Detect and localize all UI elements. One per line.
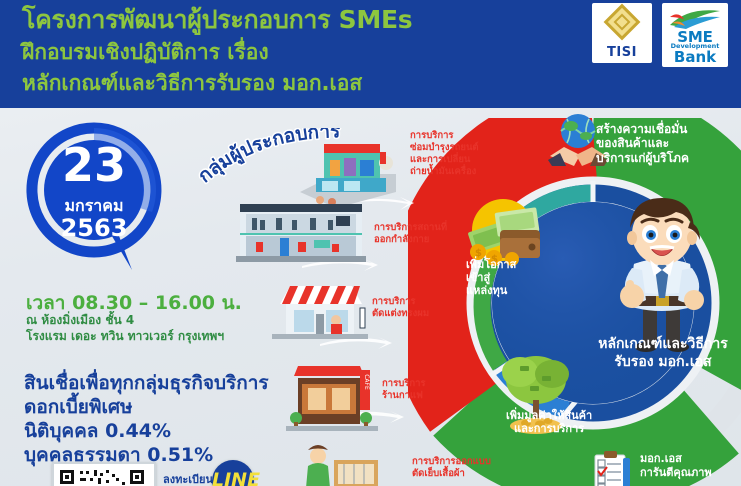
header-subtitle-1: ฝึกอบรมเชิงปฏิบัติการ เรื่อง [22, 41, 269, 64]
benefit-label-trust: สร้างความเชื่อมั่น ของสินค้าและ บริการแก… [596, 122, 689, 165]
register-label: ลงทะเบียน [163, 470, 213, 486]
barbershop-illustration [272, 276, 368, 342]
guarantee-label: มอก.เอส การันตีคุณภาพ [640, 452, 712, 480]
sme-development-bank-logo: SME Development Bank [662, 3, 728, 67]
qr-code-image [54, 464, 154, 486]
benefit-label-value: เพิ่มมูลค่าให้สินค้า และการบริการ [506, 409, 592, 435]
header-band: โครงการพัฒนาผู้ประกอบการ SMEs ฝึกอบรมเชิ… [0, 0, 741, 108]
event-venue-line2: โรงแรม เดอะ ทวิน ทาวเวอร์ กรุงเทพฯ [26, 327, 224, 346]
entrepreneur-group-heading: กลุ่มผู้ประกอบการ [196, 128, 386, 192]
svg-text:CAFE: CAFE [363, 374, 370, 390]
line-glyph: LINE [212, 469, 254, 486]
event-year: 2563 [24, 214, 164, 242]
event-date-bubble: 23 มกราคม 2563 [24, 122, 164, 274]
tisi-logo-text: TISI [592, 45, 652, 60]
benefit-label-funding: เพิ่มโอกาส เข้าสู่ แหล่งทุน [466, 258, 516, 298]
event-day: 23 [24, 142, 164, 188]
service-label-fitness: การบริการสถานที่ ออกกำลังกาย [374, 222, 447, 246]
cafe-shop-illustration: CAFE [286, 360, 378, 432]
service-label-auto: การบริการ ซ่อมบำรุงรถยนต์ และการเปลี่ยน … [410, 130, 479, 178]
service-label-tailor: การบริการออกแบบ ตัดเย็บเสื้อผ้า [412, 456, 491, 480]
businessman-thumbs-up-character [596, 192, 726, 352]
curved-heading-text: กลุ่มผู้ประกอบการ [196, 128, 341, 187]
sme-swoosh-icon [668, 7, 722, 29]
sme-logo-line3: Bank [662, 48, 728, 66]
tisi-logo: TISI [592, 3, 652, 63]
qr-code[interactable] [52, 462, 156, 486]
infographic-poster: $ $ [0, 0, 741, 486]
clipboard-checklist-icon [593, 450, 633, 486]
line-app-icon[interactable]: LINE [212, 460, 254, 486]
service-label-hair: การบริการ ตัดแต่งทรงผม [372, 296, 429, 320]
page-title: โครงการพัฒนาผู้ประกอบการ SMEs [22, 6, 412, 34]
gym-building-illustration [236, 196, 366, 268]
center-topic-label: หลักเกณฑ์และวิธีการ รับรอง มอก.เอส [588, 336, 738, 371]
header-subtitle-2: หลักเกณฑ์และวิธีการรับรอง มอก.เอส [22, 72, 362, 95]
tailor-shop-illustration [300, 442, 396, 486]
service-label-cafe: การบริการ ร้านกาแฟ [382, 378, 426, 402]
